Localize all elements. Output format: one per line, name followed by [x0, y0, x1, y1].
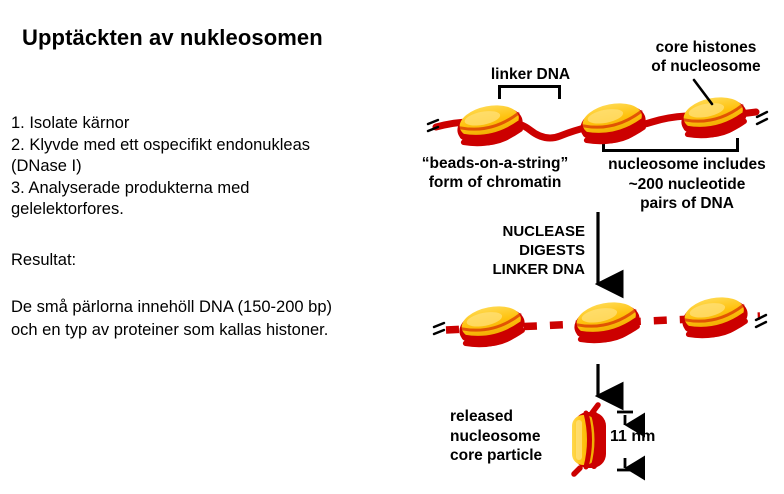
- dimension-11nm: [617, 412, 633, 470]
- nucleosome-bead: [456, 302, 528, 352]
- nucleosome-bead: [679, 293, 751, 343]
- nucleosome-bead: [678, 93, 750, 143]
- nucleosome-bead: [577, 99, 649, 149]
- digested-chromatin-row: [434, 293, 766, 352]
- nucleosome-bead: [454, 101, 526, 151]
- dna-continues-left: [434, 323, 444, 334]
- chromatin-fiber-row: [428, 93, 767, 151]
- nucleosome-diagram-graphic: [0, 0, 784, 494]
- released-core-particle-graphic: [572, 405, 606, 474]
- nucleosome-bead: [571, 298, 643, 348]
- dna-continues-right: [756, 315, 766, 327]
